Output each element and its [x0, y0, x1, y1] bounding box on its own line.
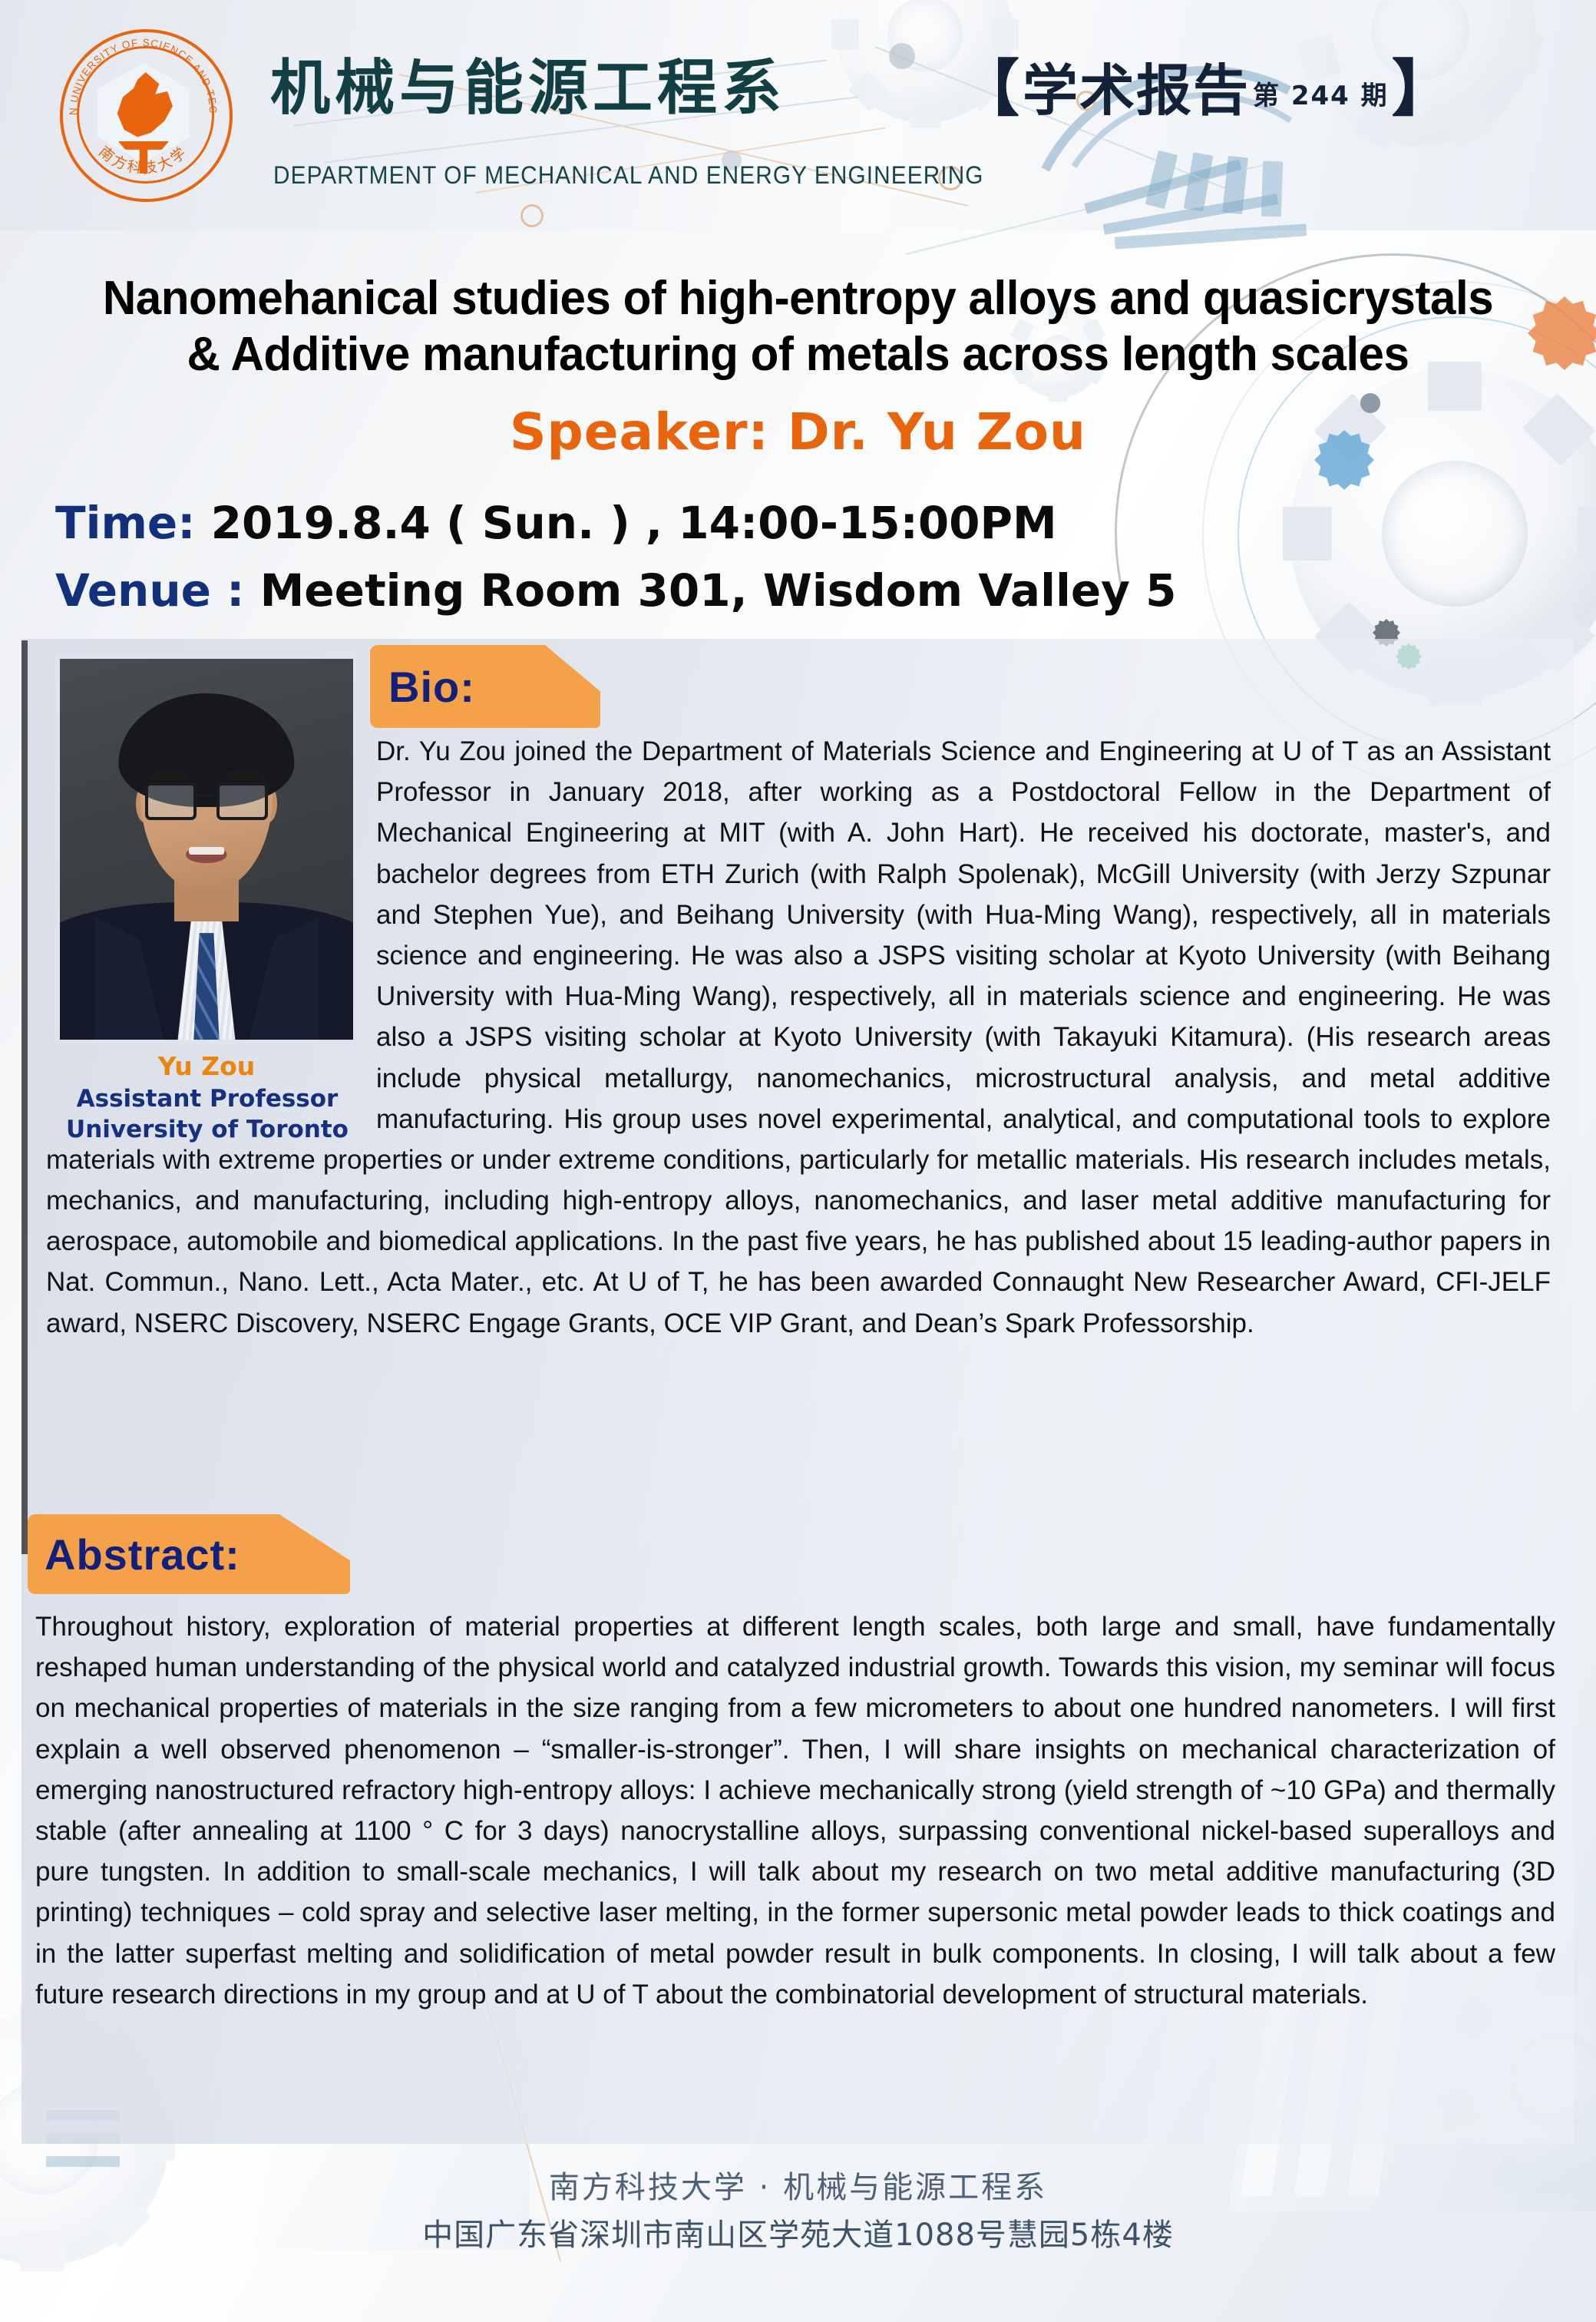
footer-organization: 南方科技大学 · 机械与能源工程系 — [0, 2164, 1596, 2211]
lecture-series-badge: 【 学术报告 第 244 期 】 — [958, 60, 1453, 118]
svg-text:南方科技大学: 南方科技大学 — [95, 143, 191, 177]
bio-label: Bio: — [370, 662, 475, 712]
speaker-line: Speaker: Dr. Yu Zou — [0, 407, 1596, 458]
department-name-chinese: 机械与能源工程系 — [270, 58, 786, 118]
university-logo: SOUTHERN UNIVERSITY OF SCIENCE AND TECHN… — [60, 29, 233, 202]
bracket-open: 【 — [958, 60, 1019, 118]
department-name-english: DEPARTMENT OF MECHANICAL AND ENERGY ENGI… — [273, 163, 984, 187]
poster-header: SOUTHERN UNIVERSITY OF SCIENCE AND TECHN… — [0, 0, 1596, 230]
time-label: Time: — [55, 497, 195, 549]
poster-footer: 南方科技大学 · 机械与能源工程系 中国广东省深圳市南山区学苑大道1088号慧园… — [0, 2164, 1596, 2259]
footer-address: 中国广东省深圳市南山区学苑大道1088号慧园5栋4楼 — [0, 2211, 1596, 2259]
venue-label: Venue : — [55, 564, 244, 617]
series-title: 学术报告 — [1023, 63, 1250, 118]
talk-venue-row: Venue : Meeting Room 301, Wisdom Valley … — [55, 568, 1177, 613]
abstract-label: Abstract: — [28, 1530, 240, 1579]
bio-text-block: Dr. Yu Zou joined the Department of Mate… — [46, 731, 1551, 1344]
university-logo-text: SOUTHERN UNIVERSITY OF SCIENCE AND TECHN… — [60, 29, 226, 196]
talk-title-line-1: Nanomehanical studies of high-entropy al… — [24, 270, 1572, 326]
talk-title-line-2: & Additive manufacturing of metals acros… — [24, 326, 1572, 382]
photo-text-wrap-spacer — [46, 731, 376, 1130]
time-value: 2019.8.4 ( Sun. ) , 14:00-15:00PM — [211, 497, 1057, 549]
series-issue-number: 第 244 期 — [1253, 83, 1389, 118]
abstract-paragraph: Throughout history, exploration of mater… — [35, 1612, 1555, 2009]
seminar-poster: SOUTHERN UNIVERSITY OF SCIENCE AND TECHN… — [0, 0, 1596, 2322]
panel-left-accent-bar — [21, 640, 28, 1554]
talk-time-row: Time: 2019.8.4 ( Sun. ) , 14:00-15:00PM — [55, 501, 1057, 545]
abstract-text-block: Throughout history, exploration of mater… — [35, 1606, 1555, 2015]
venue-value: Meeting Room 301, Wisdom Valley 5 — [260, 564, 1177, 617]
talk-title: Nanomehanical studies of high-entropy al… — [24, 270, 1572, 382]
svg-text:SOUTHERN UNIVERSITY OF SCIENCE: SOUTHERN UNIVERSITY OF SCIENCE AND TECHN… — [60, 29, 219, 115]
bracket-close: 】 — [1392, 60, 1453, 118]
